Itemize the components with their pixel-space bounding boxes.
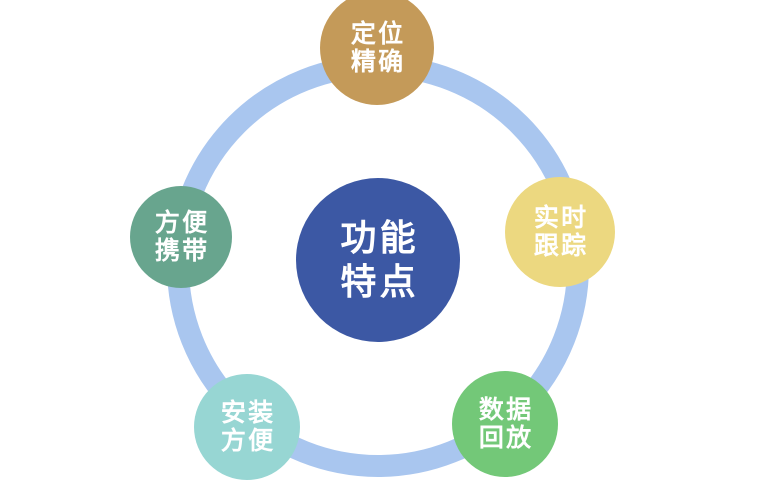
- node-realtime-tracking[interactable]: 实时 跟踪: [505, 177, 615, 287]
- node-easy-installation[interactable]: 安装 方便: [194, 374, 300, 480]
- hub-label-line2: 特点: [337, 260, 419, 304]
- node-portable-label-line2: 携带: [153, 237, 210, 266]
- hub-label-line1: 功能: [337, 216, 419, 260]
- node-easy-installation-label-line1: 安装: [219, 399, 276, 428]
- node-realtime-tracking-label-line2: 跟踪: [532, 232, 589, 261]
- node-positioning-accuracy-label-line1: 定位: [349, 20, 406, 49]
- node-positioning-accuracy-label-line2: 精确: [349, 48, 406, 77]
- node-easy-installation-label-line2: 方便: [219, 427, 276, 456]
- node-portable[interactable]: 方便 携带: [130, 186, 232, 288]
- hub-feature-overview[interactable]: 功能 特点: [296, 178, 460, 342]
- node-data-playback-label-line1: 数据: [477, 396, 534, 425]
- node-data-playback-label-line2: 回放: [477, 424, 534, 453]
- node-data-playback[interactable]: 数据 回放: [452, 371, 558, 477]
- node-portable-label-line1: 方便: [153, 209, 210, 238]
- node-realtime-tracking-label-line1: 实时: [532, 204, 589, 233]
- feature-wheel-diagram: 定位 精确 实时 跟踪 数据 回放 安装 方便 方便 携带 功能 特点: [0, 0, 758, 492]
